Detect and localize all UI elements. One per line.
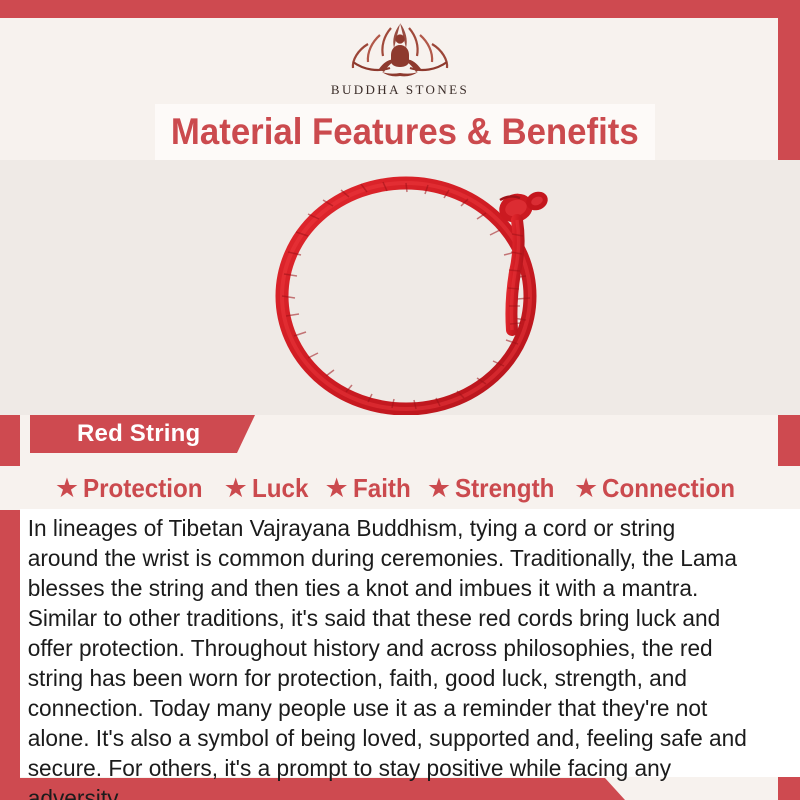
benefit-label: Strength: [455, 473, 554, 504]
benefit-label: Faith: [353, 473, 411, 504]
brand-name: BUDDHA STONES: [331, 82, 469, 98]
product-label-ribbon: Red String: [30, 415, 255, 453]
description-paragraph: In lineages of Tibetan Vajrayana Buddhis…: [20, 513, 773, 800]
benefit-item-protection: ★ Protection: [49, 473, 218, 504]
lotus-meditation-logo-icon: [334, 18, 466, 80]
benefit-label: Protection: [83, 473, 203, 504]
product-label-text: Red String: [77, 420, 200, 448]
red-braided-string-bracelet-icon: [238, 160, 588, 415]
infographic-poster: BUDDHA STONES Material Features & Benefi…: [0, 0, 800, 800]
page-title: Material Features & Benefits: [171, 111, 639, 153]
benefit-item-strength: ★ Strength: [421, 473, 568, 504]
star-icon: ★: [224, 475, 248, 502]
benefit-item-connection: ★ Connection: [568, 473, 751, 504]
frame-top-border: [0, 0, 800, 18]
brand-header: BUDDHA STONES: [0, 18, 800, 106]
description-block: In lineages of Tibetan Vajrayana Buddhis…: [20, 509, 800, 777]
benefits-row: ★ Protection ★ Luck ★ Faith ★ Strength ★…: [0, 466, 800, 510]
benefit-label: Connection: [602, 473, 735, 504]
star-icon: ★: [55, 475, 79, 502]
title-band: Material Features & Benefits: [155, 104, 655, 160]
star-icon: ★: [574, 475, 598, 502]
star-icon: ★: [427, 475, 451, 502]
benefit-item-faith: ★ Faith: [319, 473, 421, 504]
benefit-item-luck: ★ Luck: [218, 473, 319, 504]
star-icon: ★: [325, 475, 349, 502]
benefit-label: Luck: [252, 473, 308, 504]
product-photo-area: [0, 160, 800, 415]
